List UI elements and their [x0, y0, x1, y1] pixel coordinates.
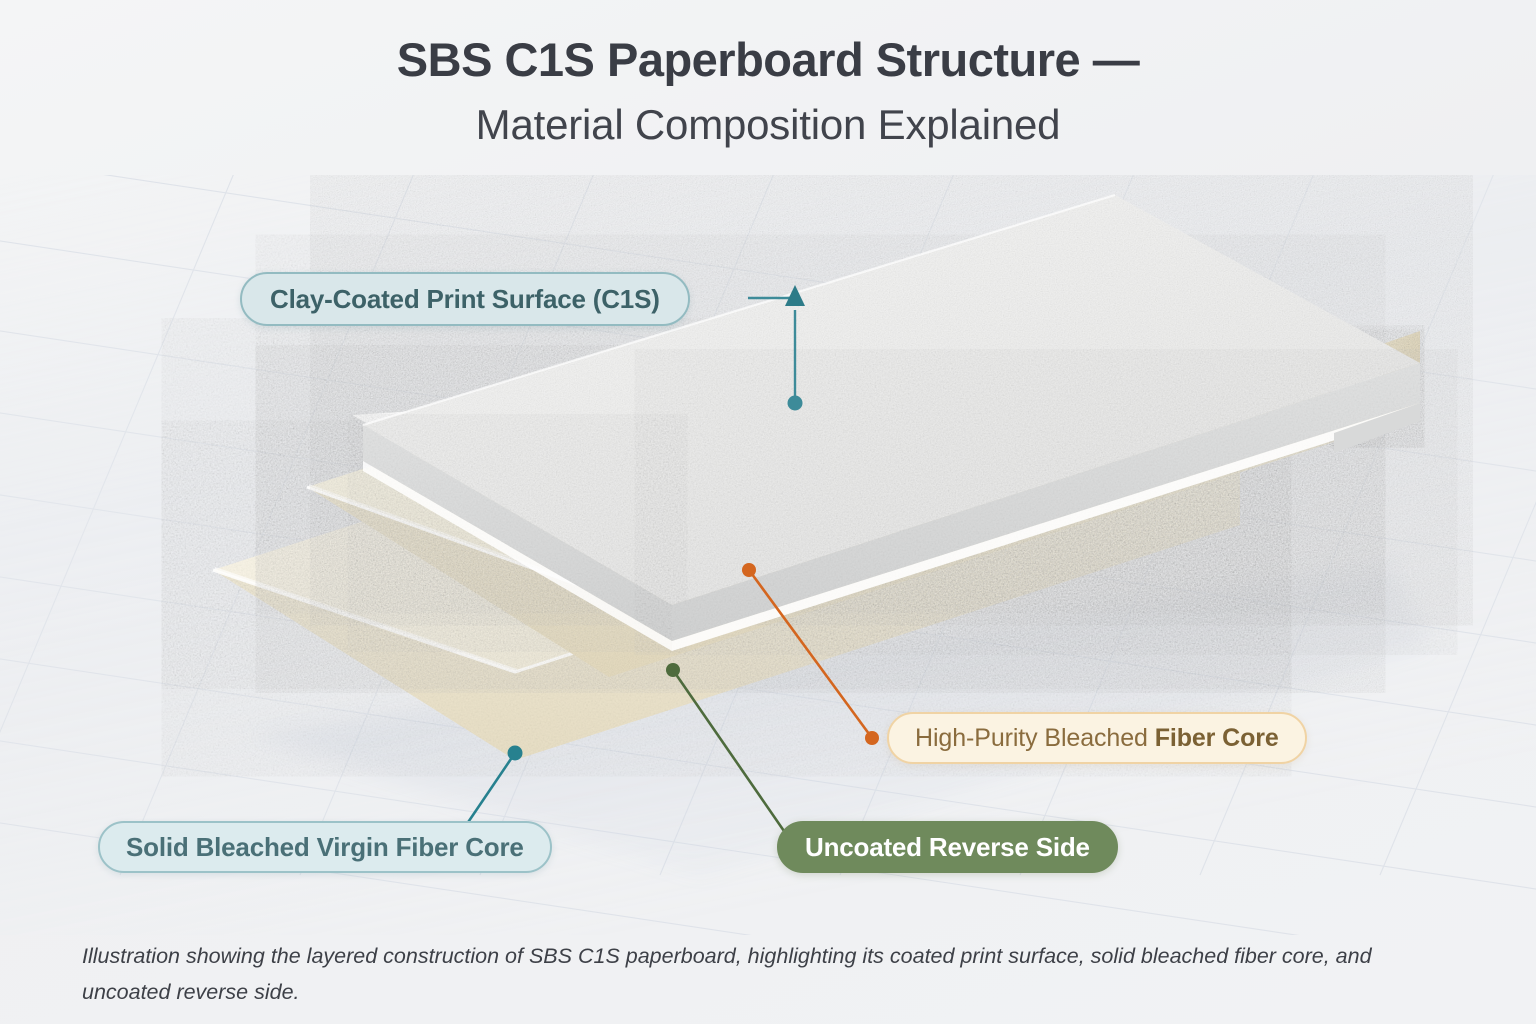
label-fiber-core-bold: Fiber Core	[1155, 724, 1279, 752]
infographic-canvas: SBS C1S Paperboard Structure — Material …	[0, 0, 1536, 1024]
page-subtitle: Material Composition Explained	[0, 101, 1536, 149]
label-reverse-side-text: Uncoated Reverse Side	[805, 832, 1090, 863]
figure-caption: Illustration showing the layered constru…	[82, 938, 1442, 1010]
title-block: SBS C1S Paperboard Structure — Material …	[0, 34, 1536, 149]
label-high-purity-bleached-fiber-core[interactable]: High-Purity Bleached Fiber Core	[887, 712, 1307, 764]
label-clay-coated-print-surface[interactable]: Clay-Coated Print Surface (C1S)	[240, 272, 690, 326]
label-solid-bleached-virgin-fiber-core[interactable]: Solid Bleached Virgin Fiber Core	[98, 821, 552, 873]
label-fiber-core-text: High-Purity Bleached Fiber Core	[915, 724, 1279, 753]
label-uncoated-reverse-side[interactable]: Uncoated Reverse Side	[777, 821, 1118, 873]
label-clay-coated-text: Clay-Coated Print Surface (C1S)	[270, 284, 660, 315]
page-title: SBS C1S Paperboard Structure —	[0, 34, 1536, 87]
label-virgin-core-text: Solid Bleached Virgin Fiber Core	[126, 832, 524, 863]
label-fiber-core-regular: High-Purity Bleached	[915, 724, 1155, 752]
